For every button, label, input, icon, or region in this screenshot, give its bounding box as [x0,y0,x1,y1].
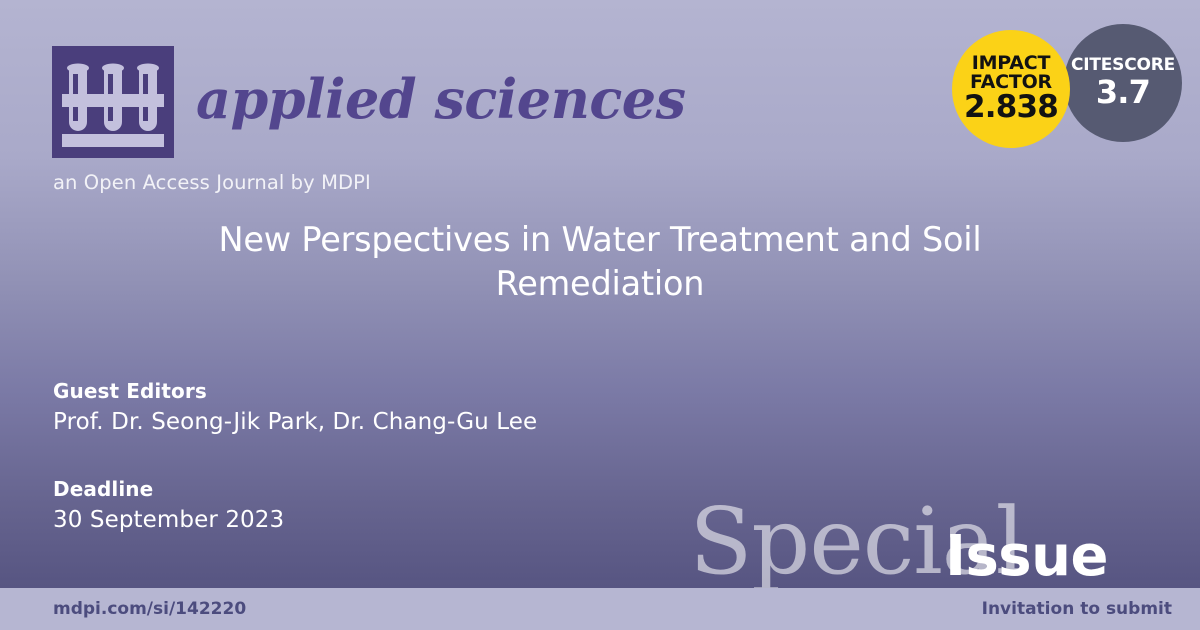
special-issue-poster: applied sciences an Open Access Journal … [0,0,1200,630]
journal-tagline: an Open Access Journal by MDPI [53,171,371,194]
test-tube-rack-icon [52,46,174,158]
impact-factor-value: 2.838 [964,92,1058,124]
citescore-label: CITESCORE [1071,57,1175,74]
deadline-heading: Deadline [53,476,537,503]
special-issue-title: New Perspectives in Water Treatment and … [170,218,1030,306]
special-issue-watermark: Special Issue [588,492,1108,588]
journal-logo[interactable]: applied sciences [52,46,686,158]
citescore-value: 3.7 [1096,76,1150,109]
journal-wordmark: applied sciences [196,72,686,132]
watermark-issue-word: Issue [945,529,1108,585]
impact-factor-badge: IMPACT FACTOR 2.838 [952,30,1070,148]
guest-editors-heading: Guest Editors [53,378,537,405]
special-issue-meta: Guest Editors Prof. Dr. Seong-Jik Park, … [53,378,537,536]
guest-editors-names: Prof. Dr. Seong-Jik Park, Dr. Chang-Gu L… [53,407,537,439]
metric-badges: IMPACT FACTOR 2.838 CITESCORE 3.7 [952,24,1182,148]
footer-bar: mdpi.com/si/142220 Invitation to submit [0,588,1200,630]
impact-factor-label: IMPACT FACTOR [970,54,1052,91]
footer-url-link[interactable]: mdpi.com/si/142220 [53,599,246,619]
citescore-badge: CITESCORE 3.7 [1064,24,1182,142]
footer-cta-label[interactable]: Invitation to submit [982,599,1172,619]
deadline-group: Deadline 30 September 2023 [53,476,537,537]
impact-factor-label-line1: IMPACT [970,54,1052,73]
guest-editors-group: Guest Editors Prof. Dr. Seong-Jik Park, … [53,378,537,439]
watermark-special-word: Special [689,496,1024,588]
deadline-value: 30 September 2023 [53,505,537,537]
